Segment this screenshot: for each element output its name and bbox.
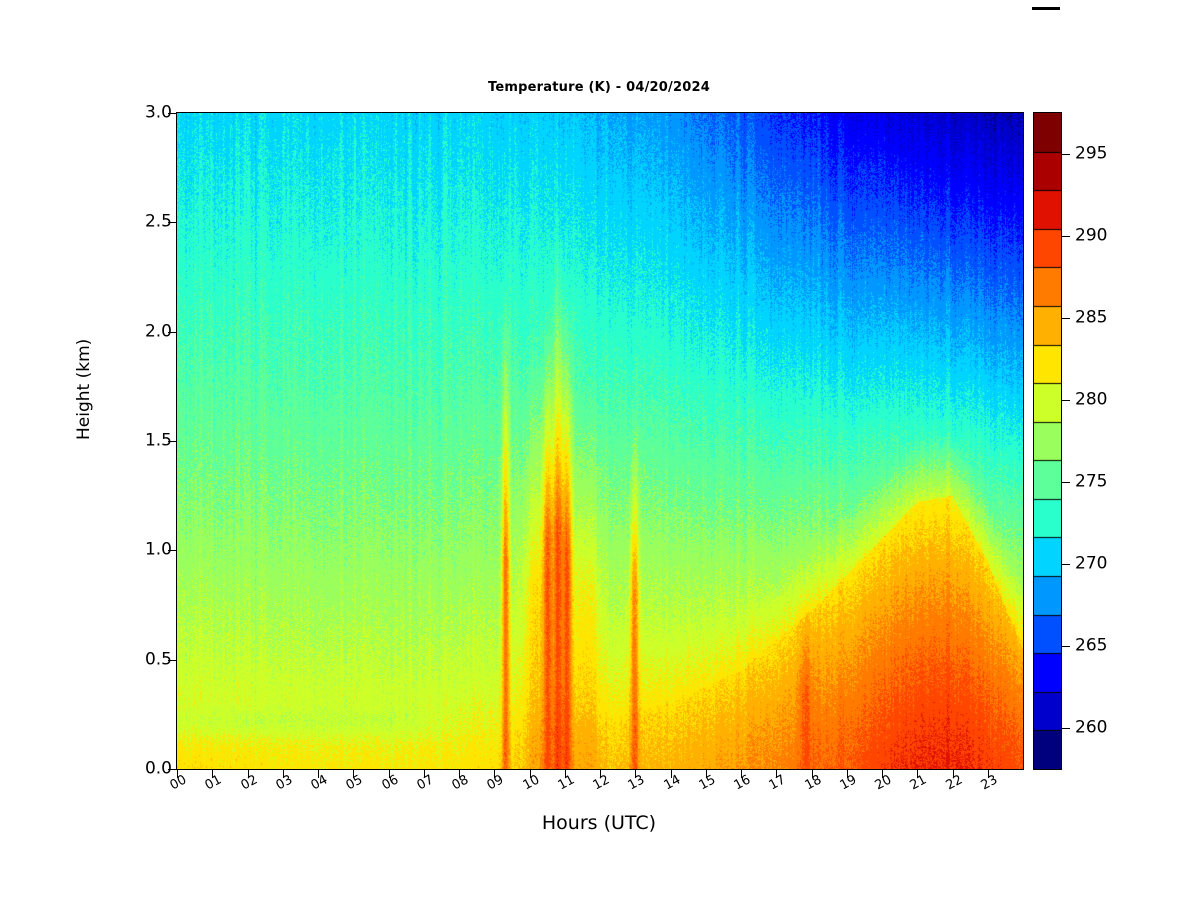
x-tick-label: 18 <box>803 773 824 792</box>
y-tick-label: 2.0 <box>145 323 172 340</box>
colorbar-tick-label: 295 <box>1075 146 1107 163</box>
x-tick-label: 04 <box>309 773 330 792</box>
y-tick-label: 1.5 <box>145 433 172 450</box>
temperature-time-height-figure: Temperature (K) - 04/20/2024 0.00.51.01.… <box>0 0 1200 900</box>
x-tick-label: 06 <box>380 773 401 792</box>
colorbar-tick-label: 290 <box>1075 228 1107 245</box>
x-tick-label: 17 <box>767 773 788 792</box>
y-tick-label: 0.5 <box>145 651 172 668</box>
x-tick-label: 22 <box>944 773 965 792</box>
colorbar-tick <box>1061 564 1070 565</box>
colorbar-tick <box>1061 646 1070 647</box>
x-tick-label: 12 <box>591 773 612 792</box>
x-tick-label: 13 <box>626 773 647 792</box>
page-title: Temperature (K) - 04/20/2024 <box>176 80 1022 95</box>
y-axis-title: Height (km) <box>74 339 94 440</box>
x-tick-label: 08 <box>450 773 471 792</box>
top-edge-artifact <box>1032 7 1060 10</box>
x-tick-label: 07 <box>415 773 436 792</box>
colorbar-tick-label: 275 <box>1075 474 1107 491</box>
colorbar-tick-label: 285 <box>1075 310 1107 327</box>
colorbar-tick <box>1061 154 1070 155</box>
colorbar-tick <box>1061 236 1070 237</box>
x-tick-label: 10 <box>521 773 542 792</box>
x-tick-label: 09 <box>485 773 506 792</box>
colorbar-tick-label: 270 <box>1075 556 1107 573</box>
x-tick-label: 11 <box>556 773 577 792</box>
colorbar-tick <box>1061 318 1070 319</box>
y-tick-label: 2.5 <box>145 214 172 231</box>
colorbar-tick-label: 280 <box>1075 392 1107 409</box>
x-tick-label: 02 <box>239 773 260 792</box>
temperature-heatmap <box>177 113 1023 769</box>
x-tick-label: 21 <box>908 773 929 792</box>
x-tick-label: 05 <box>344 773 365 792</box>
colorbar: 260265270275280285290295 <box>1033 112 1062 770</box>
y-tick-label: 1.0 <box>145 542 172 559</box>
x-tick-label: 19 <box>838 773 859 792</box>
x-tick-label: 15 <box>697 773 718 792</box>
x-tick-label: 01 <box>203 773 224 792</box>
x-tick-label: 20 <box>873 773 894 792</box>
colorbar-gradient <box>1034 113 1061 769</box>
colorbar-tick <box>1061 728 1070 729</box>
x-axis-title: Hours (UTC) <box>176 812 1022 834</box>
x-tick-label: 23 <box>979 773 1000 792</box>
x-tick-label: 16 <box>732 773 753 792</box>
plot-area: 0.00.51.01.52.02.53.0 000102030405060708… <box>176 112 1024 770</box>
x-tick-label: 14 <box>662 773 683 792</box>
y-tick-label: 3.0 <box>145 105 172 122</box>
colorbar-tick <box>1061 400 1070 401</box>
x-tick-label: 03 <box>274 773 295 792</box>
colorbar-tick-label: 260 <box>1075 720 1107 737</box>
y-tick-label: 0.0 <box>145 761 172 778</box>
colorbar-tick-label: 265 <box>1075 638 1107 655</box>
colorbar-tick <box>1061 482 1070 483</box>
